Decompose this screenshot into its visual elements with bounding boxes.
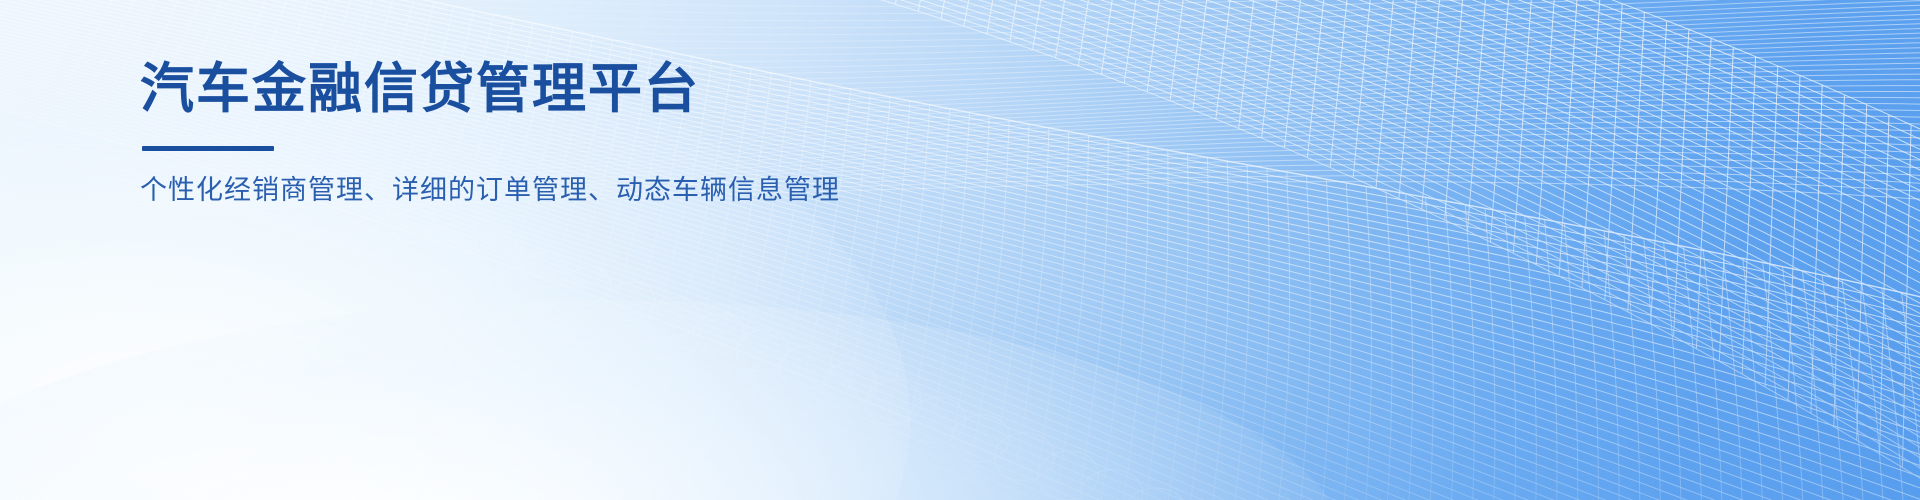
page-title: 汽车金融信贷管理平台 bbox=[140, 58, 840, 122]
title-divider bbox=[142, 146, 274, 151]
banner-content: 汽车金融信贷管理平台 个性化经销商管理、详细的订单管理、动态车辆信息管理 bbox=[140, 58, 840, 208]
page-banner: 汽车金融信贷管理平台 个性化经销商管理、详细的订单管理、动态车辆信息管理 bbox=[0, 0, 1920, 500]
page-subtitle: 个性化经销商管理、详细的订单管理、动态车辆信息管理 bbox=[140, 173, 840, 208]
light-bloom-bottom-icon bbox=[0, 300, 1350, 500]
